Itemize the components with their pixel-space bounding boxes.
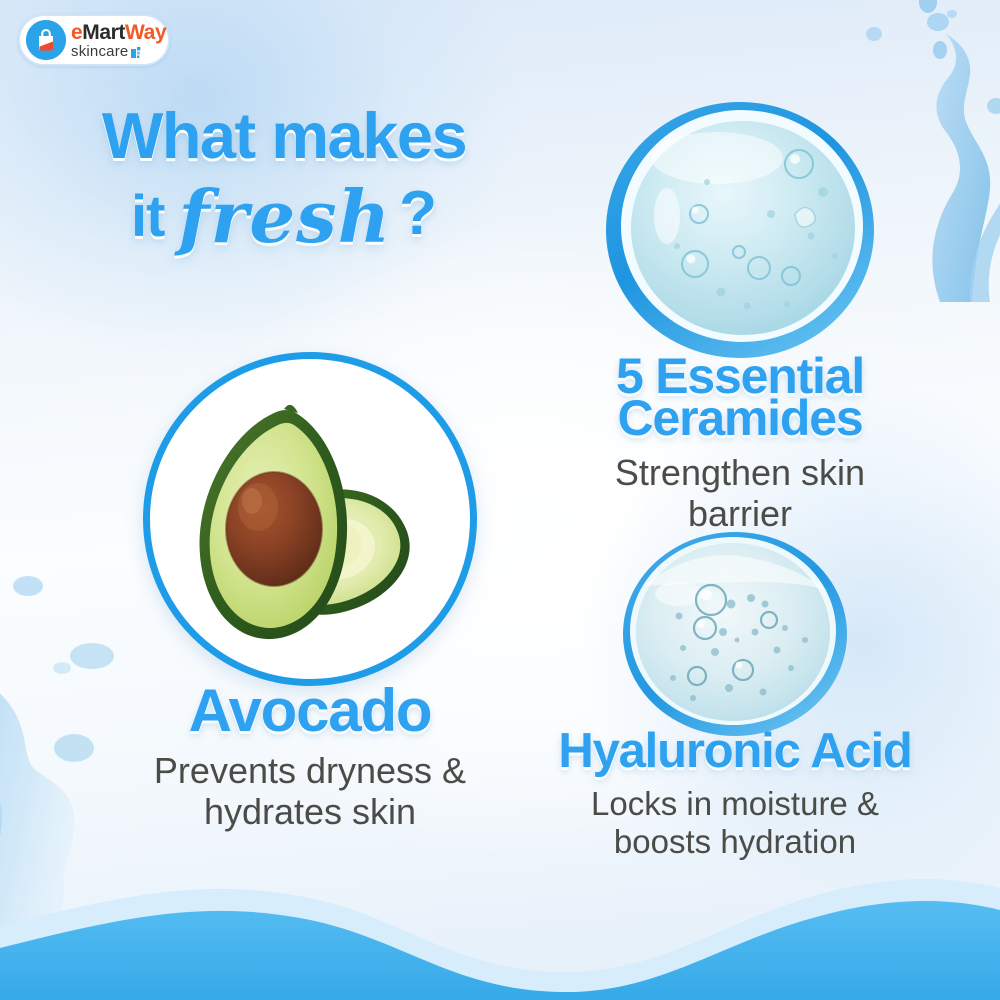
headline-line-2: itfresh? <box>64 174 504 259</box>
water-wave-footer <box>0 830 1000 1000</box>
brand-wordmark: eMartWay skincare <box>71 22 166 59</box>
ingredient-desc-avocado-line2: hydrates skin <box>100 791 520 832</box>
brand-name-part1: e <box>71 21 82 44</box>
shopping-bag-icon <box>26 20 66 60</box>
headline-question-mark: ? <box>399 179 437 248</box>
gel-droplet-photo <box>599 96 881 368</box>
pixel-squares-icon <box>131 47 143 59</box>
ingredient-card-ceramides: 5 Essential Ceramides Strengthen skin ba… <box>540 96 940 534</box>
ingredient-title-avocado: Avocado <box>100 682 520 740</box>
headline-word-fresh: fresh <box>178 174 391 259</box>
headline-line-1: What makes <box>64 104 504 168</box>
avocado-halves-photo <box>143 352 477 686</box>
headline: What makes itfresh? <box>64 104 504 259</box>
ingredient-card-avocado: Avocado Prevents dryness & hydrates skin <box>100 352 520 832</box>
ingredient-card-hyaluronic-acid: Hyaluronic Acid Locks in moisture & boos… <box>530 528 940 860</box>
brand-name-part2: Mart <box>82 21 125 44</box>
headline-word-it: it <box>131 184 164 249</box>
ingredient-desc-ceramides-line1: Strengthen skin <box>540 452 940 493</box>
ingredient-desc-hyaluronic-line1: Locks in moisture & <box>530 785 940 823</box>
gel-bubbles-photo <box>619 528 851 740</box>
ingredient-title-ceramides-line2: Ceramides <box>540 394 940 442</box>
brand-tagline: skincare <box>71 44 128 59</box>
brand-logo[interactable]: eMartWay skincare <box>18 14 170 66</box>
ingredient-desc-avocado-line1: Prevents dryness & <box>100 750 520 791</box>
promo-poster: eMartWay skincare What makes itfresh? <box>0 0 1000 1000</box>
brand-name-part3: Way <box>125 21 166 44</box>
